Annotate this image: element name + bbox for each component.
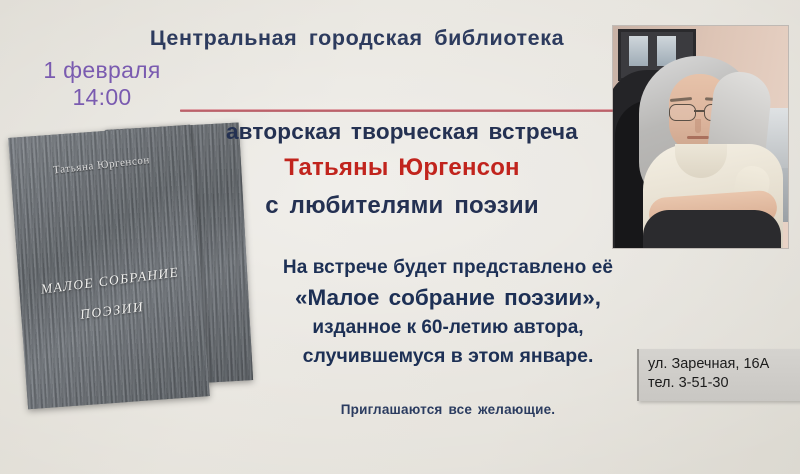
event-datetime: 1 февраля 14:00 <box>18 57 186 111</box>
description-book-title: «Малое собрание поэзии», <box>248 284 648 312</box>
headline-line-1: авторская творческая встреча <box>186 118 618 145</box>
poster-slide: Центральная городская библиотека 1 февра… <box>0 0 800 474</box>
address-box: ул. Заречная, 16А тел. 3-51-30 <box>639 349 800 401</box>
description-line-3: изданное к 60-летию автора, <box>248 316 648 340</box>
event-time: 14:00 <box>18 84 186 111</box>
book-cover-front: Татьяна Юргенсон МАЛОЕ СОБРАНИЕ ПОЭЗИИ <box>8 125 209 410</box>
author-photo <box>613 26 788 248</box>
event-description: На встрече будет представлено её «Малое … <box>248 256 648 369</box>
book-front-author: Татьяна Юргенсон <box>10 149 192 181</box>
invitation-text: Приглашаются все желающие. <box>248 402 648 417</box>
description-line-4: случившемуся в этом январе. <box>248 344 648 369</box>
event-date: 1 февраля <box>43 57 160 83</box>
event-headline: авторская творческая встреча Татьяны Юрг… <box>186 118 618 220</box>
address-phone: тел. 3-51-30 <box>648 374 796 393</box>
headline-author-name: Татьяны Юргенсон <box>186 154 618 182</box>
address-street: ул. Заречная, 16А <box>648 355 796 374</box>
headline-line-3: с любителями поэзии <box>186 192 618 220</box>
book-front-title-line2: ПОЭЗИИ <box>21 292 204 331</box>
photo-mouth <box>687 136 709 139</box>
photo-chair-front <box>643 210 781 248</box>
photo-nose <box>695 119 701 133</box>
divider-rule <box>180 109 614 112</box>
description-line-1: На встрече будет представлено её <box>248 256 648 280</box>
